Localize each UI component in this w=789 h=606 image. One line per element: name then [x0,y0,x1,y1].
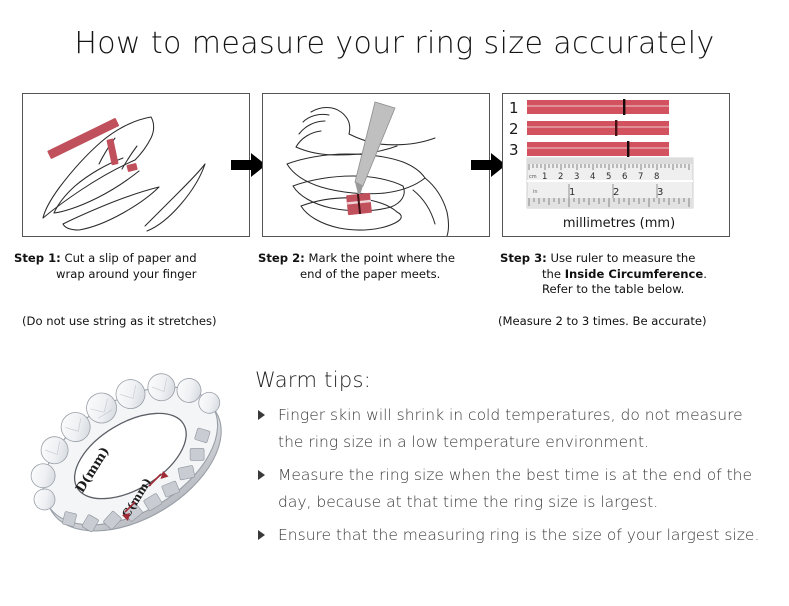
warm-tips-list: Finger skin will shrink in cold temperat… [256,402,761,555]
bullet-triangle-icon [258,410,265,420]
svg-text:2: 2 [613,187,619,198]
warm-tips-heading: Warm tips: [255,368,371,392]
paper-strip-row [527,99,669,157]
svg-text:in: in [533,189,538,195]
step-2-label: Step 2: [258,251,305,265]
step-3-line-2-suffix: . [703,267,707,281]
svg-text:6: 6 [622,172,627,182]
ruler-shape: 123 456 78 cm 123 in [527,158,693,208]
step-1-caption: Step 1: Cut a slip of paper and wrap aro… [14,251,264,282]
strip-number-1: 1 [509,99,519,117]
tip-text: Ensure that the measuring ring is the si… [278,526,759,544]
svg-text:8: 8 [654,172,659,182]
svg-text:2: 2 [558,172,563,182]
svg-text:3: 3 [657,187,663,198]
step-3-note: (Measure 2 to 3 times. Be accurate) [498,314,707,328]
step-1-line-2: wrap around your finger [14,267,264,283]
bullet-triangle-icon [258,530,265,540]
step-3-caption: Step 3: Use ruler to measure the the Ins… [500,251,750,298]
inside-circumference-emphasis: Inside Circumference [565,267,704,281]
list-item: Measure the ring size when the best time… [256,462,761,516]
step-2-illustration-panel [262,93,490,237]
step-2-caption: Step 2: Mark the point where the end of … [258,251,508,282]
step-1-line-1: Cut a slip of paper and [64,251,196,265]
svg-text:4: 4 [590,172,595,182]
strip-number-3: 3 [509,141,519,159]
step-3-illustration-panel: 1 2 3 [502,93,730,237]
list-item: Ensure that the measuring ring is the si… [256,522,761,549]
step-2-line-1: Mark the point where the [308,251,455,265]
millimetres-caption: millimetres (mm) [563,216,675,231]
eternity-ring-icon: D(mm) C(mm) [18,352,250,572]
svg-text:5: 5 [606,172,611,182]
step-3-line-3: Refer to the table below. [500,282,750,298]
list-item: Finger skin will shrink in cold temperat… [256,402,761,456]
step-3-label: Step 3: [500,251,547,265]
ring-diagram: D(mm) C(mm) [18,352,250,572]
step-1-label: Step 1: [14,251,61,265]
step-3-line-1: Use ruler to measure the [550,251,695,265]
pen-shape [355,102,395,198]
svg-text:cm: cm [529,174,537,180]
step-1-note: (Do not use string as it stretches) [22,314,217,328]
step-3-line-2-prefix: the [542,267,565,281]
ring-size-guide-infographic: How to measure your ring size accurately [0,0,789,606]
tip-text: Finger skin will shrink in cold temperat… [278,406,743,451]
svg-text:7: 7 [638,172,643,182]
hand-with-paper-strip-icon [23,94,250,237]
svg-text:1: 1 [569,187,575,198]
paper-strip-shape [346,193,372,215]
strip-number-2: 2 [509,120,519,138]
step-2-line-2: end of the paper meets. [258,267,508,283]
step-1-illustration-panel [22,93,250,237]
bullet-triangle-icon [258,470,265,480]
strips-over-ruler-icon: 1 2 3 [503,94,730,237]
tip-text: Measure the ring size when the best time… [278,466,752,511]
page-title: How to measure your ring size accurately [0,26,789,61]
hand-marking-with-pen-icon [263,94,490,237]
svg-text:1: 1 [542,172,547,182]
svg-text:3: 3 [574,172,579,182]
